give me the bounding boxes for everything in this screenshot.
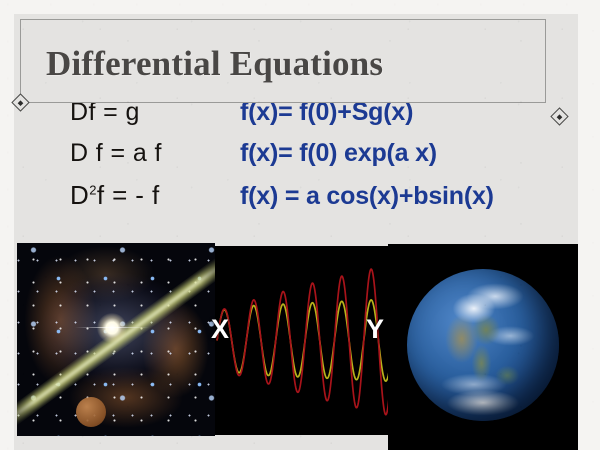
equation-lhs-3-exponent: 2 [89, 182, 97, 197]
axis-label-x: X [211, 316, 229, 343]
equation-list: Df = g f(x)= f(0)+Sg(x) D f = a f f(x)= … [70, 98, 578, 221]
equation-lhs-3: D2f = - f [70, 180, 240, 211]
equation-row: D f = a f f(x)= f(0) exp(a x) [70, 139, 578, 180]
equation-rhs-3: f(x) = a cos(x)+bsin(x) [240, 182, 494, 211]
text-box-selection-frame[interactable] [20, 19, 546, 103]
equation-lhs-3-rest: f = - f [97, 180, 160, 210]
page-background: Differential Equations Df = g f(x)= f(0)… [0, 0, 600, 450]
image-strip: X Y [14, 243, 578, 450]
equation-lhs-2: D f = a f [70, 139, 240, 168]
axis-label-y: Y [366, 316, 384, 343]
equation-row: D2f = - f f(x) = a cos(x)+bsin(x) [70, 180, 578, 221]
nebula-image[interactable] [17, 243, 215, 436]
stellar-core [97, 313, 127, 343]
equation-row: Df = g f(x)= f(0)+Sg(x) [70, 98, 578, 139]
earth-image[interactable] [388, 244, 578, 450]
earth-globe [407, 269, 559, 421]
equation-rhs-2: f(x)= f(0) exp(a x) [240, 139, 437, 168]
equation-lhs-3-operator: D [70, 180, 89, 210]
